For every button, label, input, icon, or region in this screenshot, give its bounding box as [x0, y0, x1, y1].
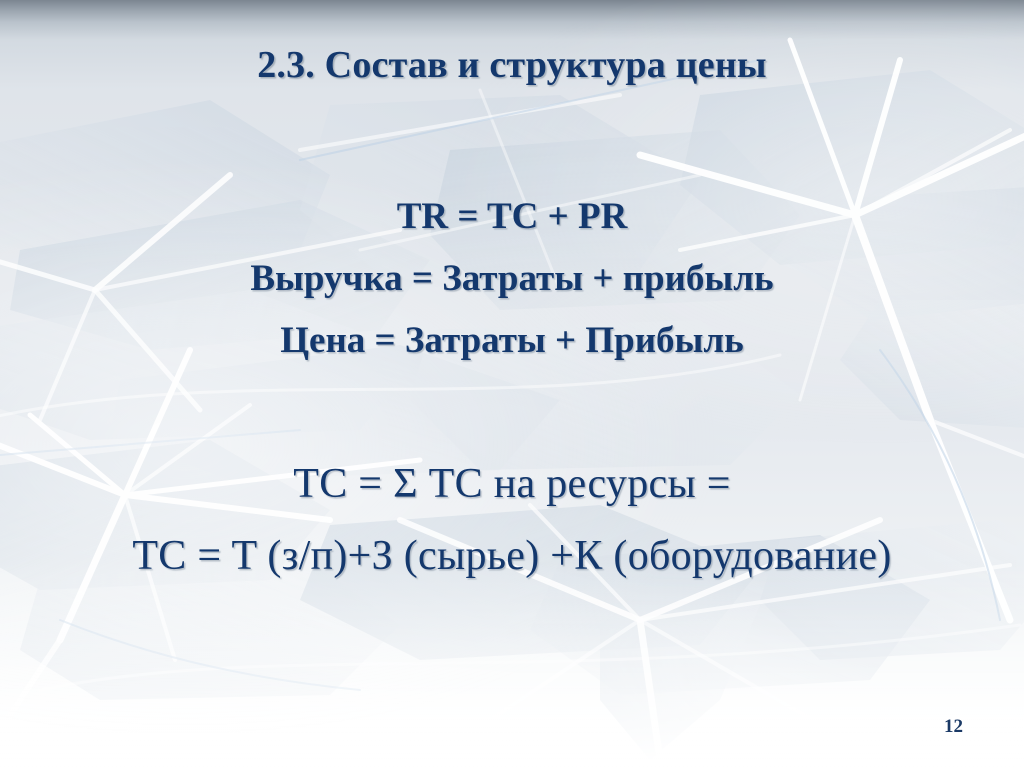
formula-line-tc-sum-resources: TC = Σ TC на ресурсы = [0, 448, 1024, 520]
slide-page-number: 12 [944, 716, 963, 738]
presentation-slide: 2.3. Состав и структура цены TR = TC + P… [0, 0, 1024, 767]
formula-group-total-cost: TC = Σ TC на ресурсы = TC = T (з/п)+З (с… [0, 448, 1024, 592]
slide-content: 2.3. Состав и структура цены TR = TC + P… [0, 0, 1024, 767]
formula-line-vyruchka: Выручка = Затраты + прибыль [0, 248, 1024, 310]
slide-title: 2.3. Состав и структура цены [0, 43, 1024, 87]
formula-line-tc-components: TC = T (з/п)+З (сырье) +К (оборудование) [0, 520, 1024, 592]
formula-line-tr-tc-pr: TR = TC + PR [0, 186, 1024, 248]
formula-group-revenue: TR = TC + PR Выручка = Затраты + прибыль… [0, 186, 1024, 372]
formula-line-cena: Цена = Затраты + Прибыль [0, 310, 1024, 372]
